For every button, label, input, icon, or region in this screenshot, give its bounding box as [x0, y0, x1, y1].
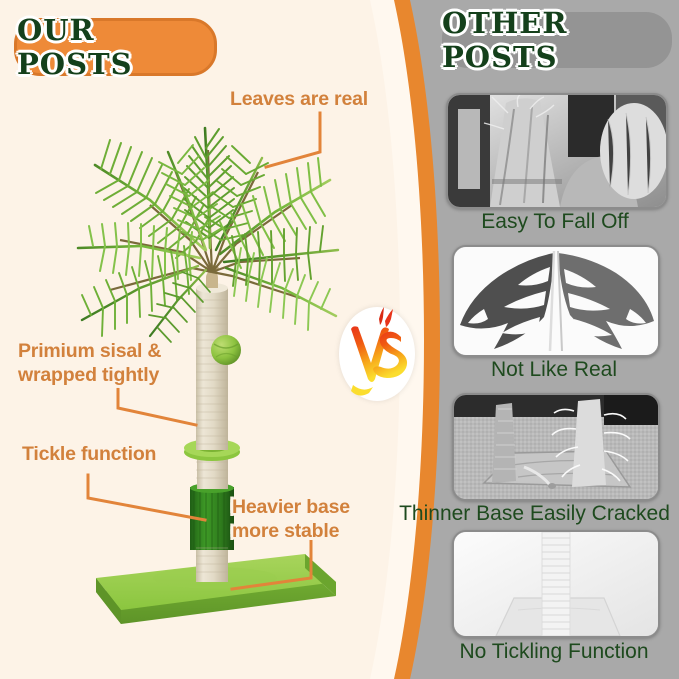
green-ball-toy [211, 335, 241, 365]
vs-badge [339, 307, 415, 401]
annotation-line: Tickle function [22, 443, 156, 467]
annotation-line: more stable [232, 520, 350, 544]
annotation-line: Primium sisal & [18, 340, 161, 364]
bristle-brush [190, 483, 234, 550]
annotation-leaves-are-real: Leaves are real [230, 88, 368, 112]
annotation-tickle-function: Tickle function [22, 443, 156, 467]
annotation-line: Leaves are real [230, 88, 368, 112]
vs-icon [339, 307, 415, 401]
annotation-line: Heavier base [232, 496, 350, 520]
annotation-line: wrapped tightly [18, 364, 161, 388]
annotation-premium-sisal: Primium sisal & wrapped tightly [18, 340, 161, 388]
annotation-heavier-base: Heavier base more stable [232, 496, 350, 544]
infographic-canvas: Leaves are real Primium sisal & wrapped … [0, 0, 679, 679]
